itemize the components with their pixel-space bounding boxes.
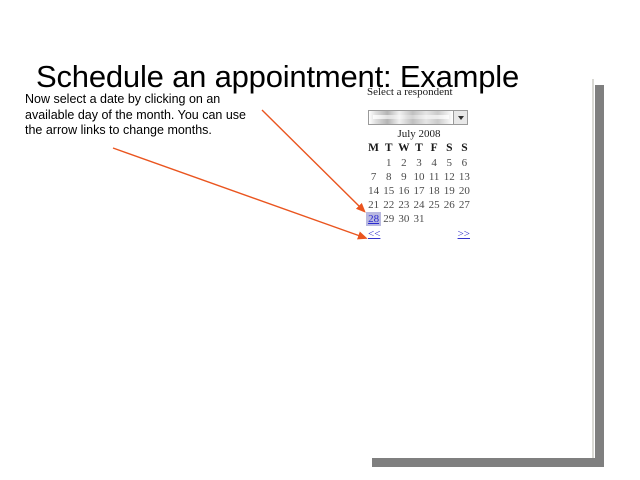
calendar-week-row: 21 22 23 24 25 26 27 bbox=[366, 198, 472, 212]
calendar-prev-month-link[interactable]: << bbox=[368, 228, 380, 240]
calendar-week-row: 14 15 16 17 18 19 20 bbox=[366, 184, 472, 198]
respondent-selected-value bbox=[369, 111, 453, 124]
calendar-day: 26 bbox=[442, 198, 457, 212]
calendar-week-row: 28 29 30 31 bbox=[366, 212, 472, 226]
respondent-select[interactable] bbox=[368, 110, 468, 125]
calendar-month-label: July 2008 bbox=[366, 128, 472, 142]
calendar-day: 3 bbox=[411, 156, 426, 170]
calendar-day: 27 bbox=[457, 198, 472, 212]
calendar-weekday: T bbox=[411, 142, 426, 156]
slide-canvas: Schedule an appointment: Example Now sel… bbox=[0, 0, 640, 480]
calendar-day: 21 bbox=[366, 198, 381, 212]
calendar-day: 29 bbox=[381, 212, 396, 226]
calendar-day-selected[interactable]: 28 bbox=[366, 212, 381, 226]
calendar-widget: July 2008 M T W T F S S 1 2 3 bbox=[366, 128, 472, 244]
calendar-nav: << >> bbox=[366, 228, 472, 244]
calendar-weekday-row: M T W T F S S bbox=[366, 142, 472, 156]
calendar-day: 23 bbox=[396, 198, 411, 212]
calendar-weekday: S bbox=[457, 142, 472, 156]
calendar-day-empty bbox=[442, 212, 457, 226]
instruction-text: Now select a date by clicking on an avai… bbox=[25, 92, 265, 139]
calendar-next-month-link[interactable]: >> bbox=[458, 228, 470, 240]
calendar-weekday: T bbox=[381, 142, 396, 156]
calendar-day: 31 bbox=[411, 212, 426, 226]
frame-shadow-bottom bbox=[372, 458, 604, 467]
calendar-day: 12 bbox=[442, 170, 457, 184]
calendar-day: 8 bbox=[381, 170, 396, 184]
calendar-day: 19 bbox=[442, 184, 457, 198]
calendar-weekday: S bbox=[442, 142, 457, 156]
calendar-day: 18 bbox=[427, 184, 442, 198]
calendar-day: 25 bbox=[427, 198, 442, 212]
frame-border-right bbox=[592, 79, 594, 464]
calendar-day: 2 bbox=[396, 156, 411, 170]
calendar-day: 14 bbox=[366, 184, 381, 198]
calendar-grid: M T W T F S S 1 2 3 4 5 6 bbox=[366, 142, 472, 226]
calendar-day-empty bbox=[427, 212, 442, 226]
calendar-day: 9 bbox=[396, 170, 411, 184]
calendar-weekday: W bbox=[396, 142, 411, 156]
calendar-day: 17 bbox=[411, 184, 426, 198]
calendar-day: 7 bbox=[366, 170, 381, 184]
calendar-day: 16 bbox=[396, 184, 411, 198]
calendar-day: 22 bbox=[381, 198, 396, 212]
calendar-day-empty bbox=[366, 156, 381, 170]
annotation-arrow-bottom bbox=[113, 148, 360, 236]
annotation-arrow-top bbox=[262, 110, 360, 207]
calendar-day: 4 bbox=[427, 156, 442, 170]
calendar-weekday: M bbox=[366, 142, 381, 156]
chevron-down-icon[interactable] bbox=[453, 111, 467, 124]
calendar-day: 13 bbox=[457, 170, 472, 184]
calendar-week-row: 7 8 9 10 11 12 13 bbox=[366, 170, 472, 184]
calendar-day: 5 bbox=[442, 156, 457, 170]
calendar-day: 6 bbox=[457, 156, 472, 170]
calendar-day: 20 bbox=[457, 184, 472, 198]
calendar-day-empty bbox=[457, 212, 472, 226]
calendar-day: 1 bbox=[381, 156, 396, 170]
frame-shadow-right bbox=[595, 85, 604, 467]
page-title: Schedule an appointment: Example bbox=[36, 59, 606, 95]
calendar-day: 30 bbox=[396, 212, 411, 226]
calendar-week-row: 1 2 3 4 5 6 bbox=[366, 156, 472, 170]
calendar-day: 10 bbox=[411, 170, 426, 184]
calendar-day: 15 bbox=[381, 184, 396, 198]
calendar-day: 11 bbox=[427, 170, 442, 184]
respondent-label: Select a respondent bbox=[367, 86, 453, 98]
calendar-weekday: F bbox=[427, 142, 442, 156]
calendar-day: 24 bbox=[411, 198, 426, 212]
calendar-day-link[interactable]: 28 bbox=[368, 213, 379, 225]
